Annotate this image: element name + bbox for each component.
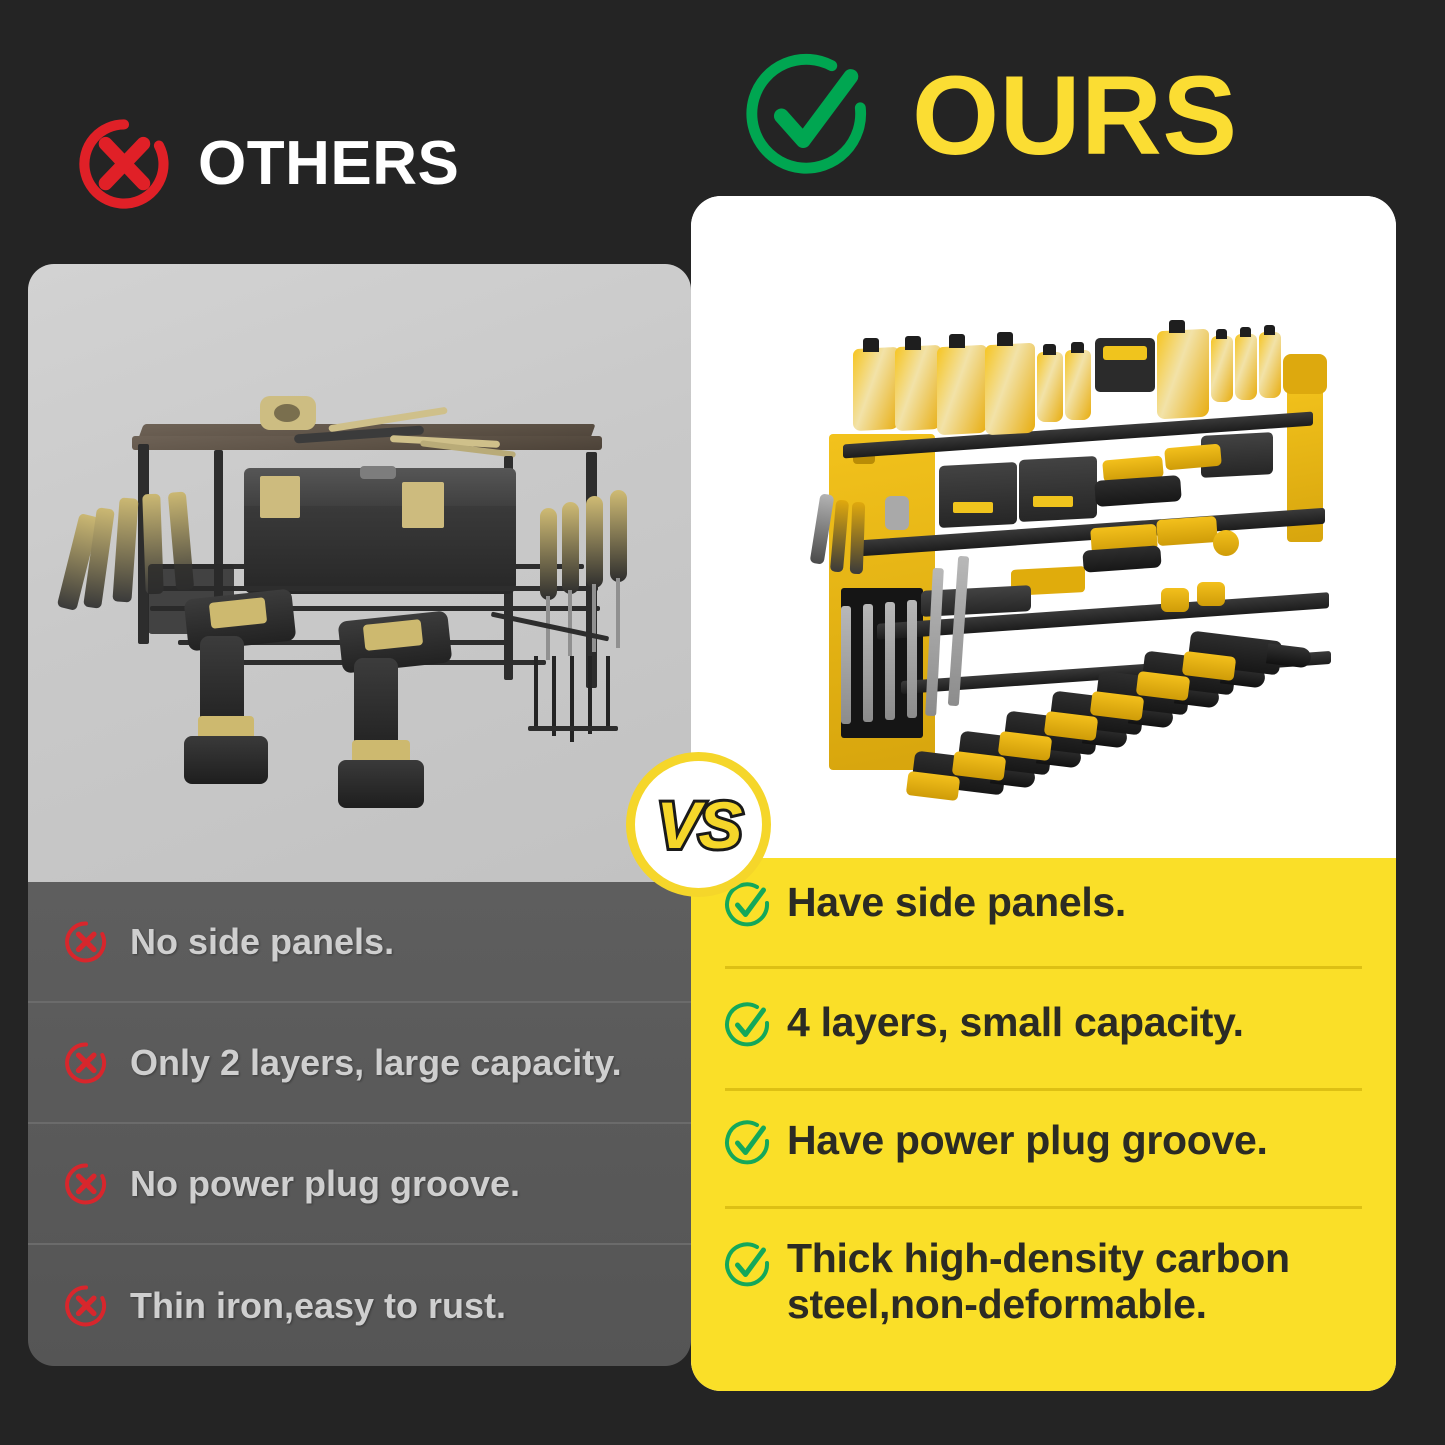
circled-x-icon [64,1162,108,1206]
others-list-item: Only 2 layers, large capacity. [28,1003,691,1124]
others-item-label: No side panels. [130,921,394,963]
ours-list-item: Have side panels. [691,858,1396,970]
circled-x-icon [64,920,108,964]
ours-list-item: Thick high-density carbon steel,non-defo… [691,1208,1396,1378]
list-divider [725,1206,1362,1209]
list-divider [725,966,1362,969]
ours-item-label: 4 layers, small capacity. [787,1000,1244,1046]
ours-item-label: Have side panels. [787,880,1126,926]
circled-x-icon [64,1284,108,1328]
ours-feature-list: Have side panels. 4 layers, small capaci… [691,858,1396,1391]
others-item-label: Thin iron,easy to rust. [130,1285,506,1327]
others-title: OTHERS [198,133,459,195]
others-list-item: No power plug groove. [28,1124,691,1245]
ours-item-label: Have power plug groove. [787,1118,1268,1164]
circled-x-icon [64,1041,108,1085]
others-item-label: No power plug groove. [130,1163,520,1205]
ours-title: OURS [912,60,1238,172]
others-item-label: Only 2 layers, large capacity. [130,1042,622,1084]
ours-header: OURS [742,48,1238,184]
circled-check-icon [742,48,878,184]
others-product-image [28,264,691,882]
circled-x-icon [78,118,170,210]
others-list-item: Thin iron,easy to rust. [28,1245,691,1366]
others-feature-list: No side panels. Only 2 layers, large cap… [28,882,691,1366]
others-list-item: No side panels. [28,882,691,1003]
ours-product-image [691,196,1396,858]
others-header: OTHERS [78,118,459,210]
vs-label: VS [656,792,740,858]
ours-item-label: Thick high-density carbon steel,non-defo… [787,1236,1367,1328]
others-card: No side panels. Only 2 layers, large cap… [28,264,691,1366]
circled-check-icon [723,1118,773,1168]
circled-check-icon [723,1000,773,1050]
vs-badge: VS [626,752,771,897]
ours-card: Have side panels. 4 layers, small capaci… [691,196,1396,1391]
list-divider [725,1088,1362,1091]
circled-check-icon [723,1240,773,1290]
ours-list-item: Have power plug groove. [691,1090,1396,1208]
ours-list-item: 4 layers, small capacity. [691,970,1396,1090]
